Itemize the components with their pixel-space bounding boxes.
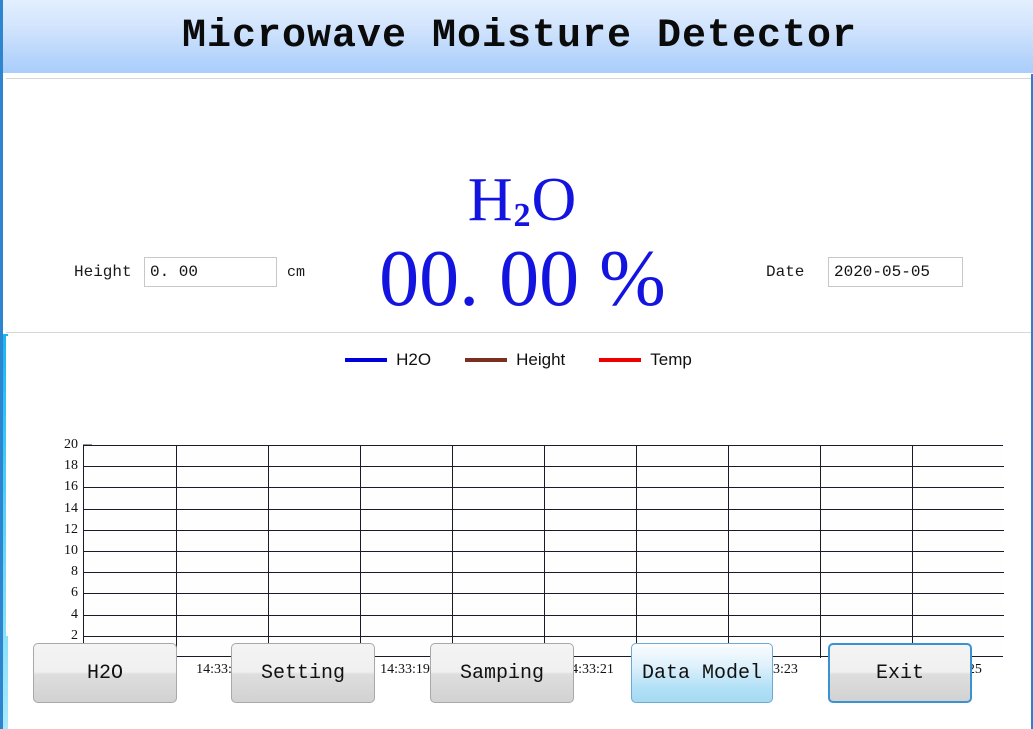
plot-wrapper: 02468101214161820 14:33:1614:33:1714:33:…: [6, 388, 1031, 636]
height-input[interactable]: [144, 257, 277, 287]
h2o-subscript-2: 2: [513, 197, 531, 234]
h2o-letter-o: O: [532, 166, 578, 234]
legend-item-h2o: H2O: [345, 350, 431, 370]
y-axis-tick-label: 18: [64, 458, 78, 474]
date-input[interactable]: [828, 257, 963, 287]
grid-line-vertical: [268, 446, 269, 658]
grid-line-vertical: [636, 446, 637, 658]
grid-line-vertical: [452, 446, 453, 658]
legend-swatch-h2o: [345, 358, 387, 362]
grid-line-vertical: [360, 446, 361, 658]
grid-line-vertical: [176, 446, 177, 658]
measurement-panel: Height cm Channel Date CPS H2O 00. 00 %: [6, 78, 1031, 333]
date-field-row: Date: [766, 257, 963, 287]
y-axis-tick-label: 14: [64, 501, 78, 517]
height-field-row: Height cm: [74, 257, 305, 287]
chart-legend: H2O Height Temp: [6, 350, 1031, 370]
exit-button[interactable]: Exit: [828, 643, 972, 703]
y-axis-tick-label: 12: [64, 522, 78, 538]
legend-swatch-temp: [599, 358, 641, 362]
title-bar: Microwave Moisture Detector: [3, 0, 1033, 74]
height-unit-label: cm: [287, 264, 305, 281]
application-window: Microwave Moisture Detector Height cm Ch…: [0, 0, 1033, 729]
legend-swatch-height: [465, 358, 507, 362]
y-axis-tick-label: 20: [64, 437, 78, 453]
h2o-letter-h: H: [468, 166, 514, 234]
y-axis-tick-label: 10: [64, 543, 78, 559]
legend-label-h2o: H2O: [396, 350, 431, 370]
grid-line-vertical: [544, 446, 545, 658]
date-label: Date: [766, 263, 828, 281]
y-axis-tick-label: 6: [71, 585, 78, 601]
grid-line-vertical: [820, 446, 821, 658]
button-bar: H2O Setting Samping Data Model Exit: [3, 643, 1033, 707]
data-model-button[interactable]: Data Model: [631, 643, 773, 703]
moisture-readout: H2O 00. 00 %: [6, 169, 1033, 321]
y-axis-tick-label: 4: [71, 607, 78, 623]
height-label: Height: [74, 263, 144, 281]
setting-button[interactable]: Setting: [231, 643, 375, 703]
y-axis-tick-label: 8: [71, 564, 78, 580]
grid-line-vertical: [912, 446, 913, 658]
legend-label-temp: Temp: [650, 350, 692, 370]
legend-item-height: Height: [465, 350, 565, 370]
trend-chart: H2O Height Temp 02468101214161820 14:33:…: [6, 336, 1031, 636]
samping-button[interactable]: Samping: [430, 643, 574, 703]
h2o-button[interactable]: H2O: [33, 643, 177, 703]
h2o-formula-label: H2O: [6, 169, 1033, 231]
y-axis-tick-label: 16: [64, 479, 78, 495]
legend-item-temp: Temp: [599, 350, 692, 370]
page-title: Microwave Moisture Detector: [182, 14, 857, 59]
legend-label-height: Height: [516, 350, 565, 370]
y-axis: 02468101214161820: [34, 445, 78, 657]
plot-grid: [83, 445, 1003, 657]
y-axis-tick-label: 2: [71, 628, 78, 644]
grid-line-vertical: [728, 446, 729, 658]
